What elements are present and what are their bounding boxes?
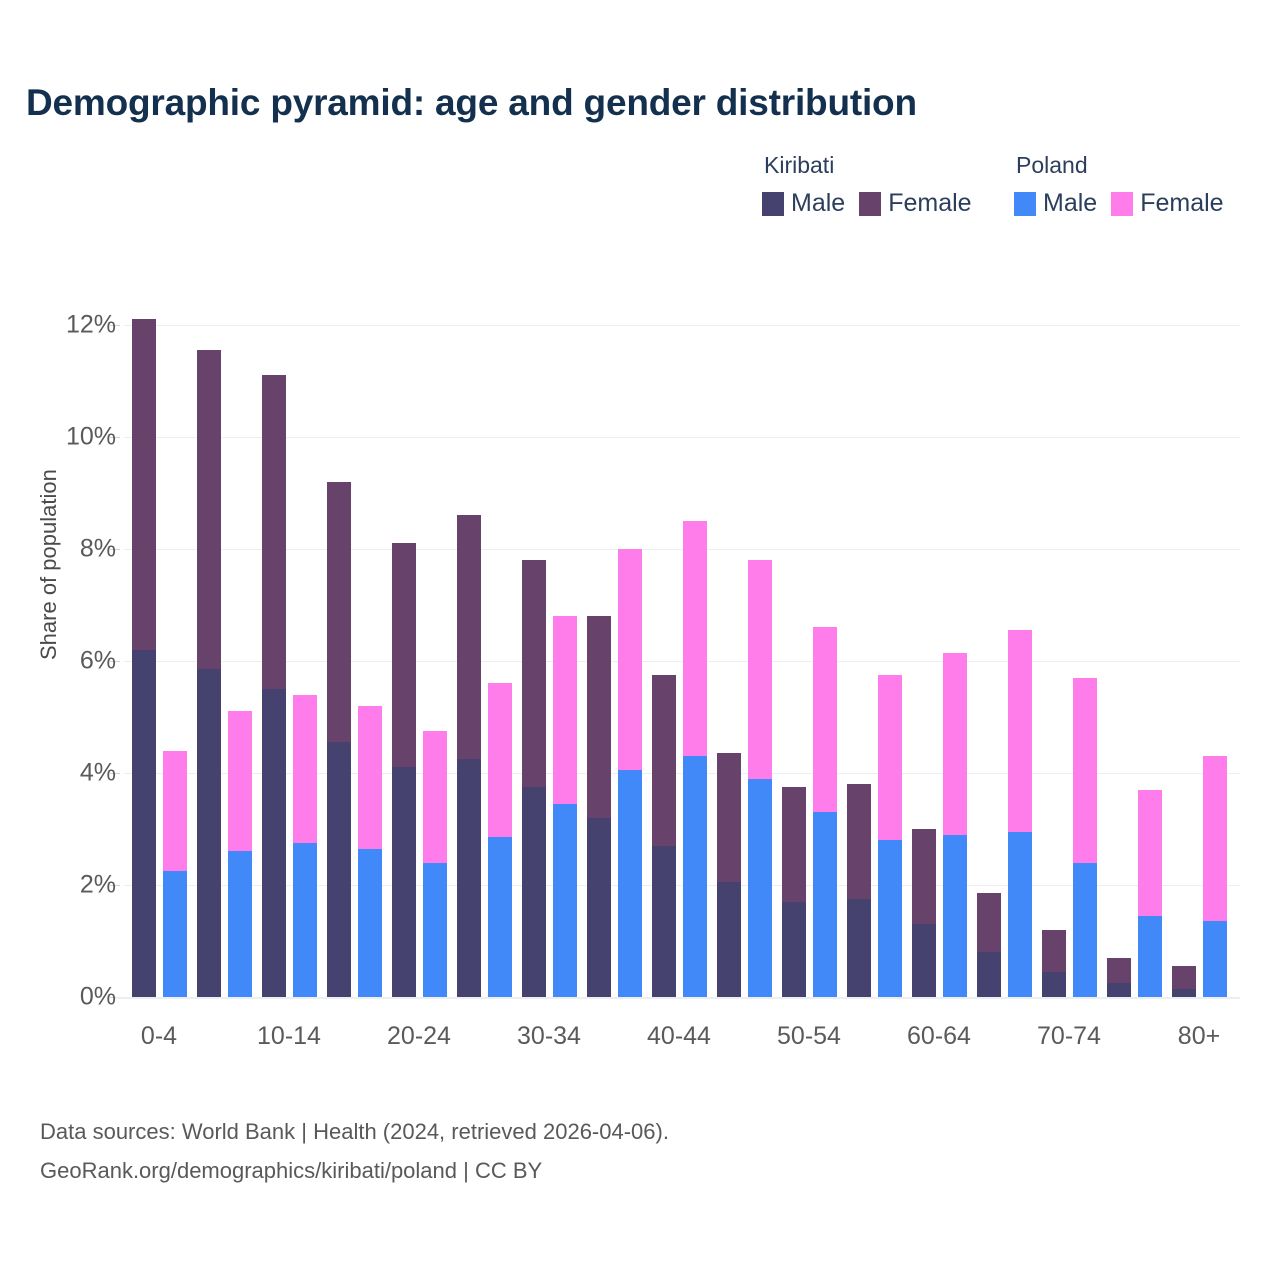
bar-poland[interactable] — [1008, 630, 1032, 997]
bar-segment-poland-male[interactable] — [358, 849, 382, 997]
bar-group — [587, 325, 642, 997]
bar-group — [262, 325, 317, 997]
bar-group — [977, 325, 1032, 997]
bar-segment-poland-male[interactable] — [618, 770, 642, 997]
footer-line-attribution: GeoRank.org/demographics/kiribati/poland… — [40, 1151, 669, 1190]
y-axis-tick-label: 0% — [0, 983, 116, 1012]
bar-segment-poland-female[interactable] — [1203, 756, 1227, 921]
bar-segment-poland-male[interactable] — [683, 756, 707, 997]
bar-segment-poland-male[interactable] — [1008, 832, 1032, 997]
bar-segment-kiribati-male[interactable] — [262, 689, 286, 997]
x-axis-tick-label: 50-54 — [777, 1022, 841, 1051]
bar-group — [197, 325, 252, 997]
bar-poland[interactable] — [293, 695, 317, 997]
y-axis-label: Share of population — [36, 469, 62, 660]
bar-group — [717, 325, 772, 997]
bar-segment-kiribati-male[interactable] — [652, 846, 676, 997]
bar-segment-kiribati-male[interactable] — [457, 759, 481, 997]
bar-kiribati[interactable] — [587, 616, 611, 997]
bar-poland[interactable] — [943, 653, 967, 997]
bar-segment-kiribati-female[interactable] — [132, 319, 156, 649]
bar-segment-kiribati-female[interactable] — [977, 893, 1001, 952]
chart-area: Share of population 0%2%4%6%8%10%12%0-41… — [0, 0, 1280, 1280]
bar-segment-kiribati-female[interactable] — [392, 543, 416, 767]
bar-kiribati[interactable] — [652, 675, 676, 997]
bar-kiribati[interactable] — [392, 543, 416, 997]
bar-segment-kiribati-female[interactable] — [327, 482, 351, 742]
bar-kiribati[interactable] — [977, 893, 1001, 997]
bar-segment-kiribati-male[interactable] — [1172, 989, 1196, 997]
bar-group — [132, 325, 187, 997]
footer-line-sources: Data sources: World Bank | Health (2024,… — [40, 1112, 669, 1151]
bar-kiribati[interactable] — [262, 375, 286, 997]
bar-poland[interactable] — [878, 675, 902, 997]
bar-segment-poland-female[interactable] — [1008, 630, 1032, 832]
bar-kiribati[interactable] — [717, 753, 741, 997]
bar-segment-poland-female[interactable] — [878, 675, 902, 840]
y-axis-tick-label: 10% — [0, 423, 116, 452]
bar-group — [912, 325, 967, 997]
bar-segment-poland-male[interactable] — [1073, 863, 1097, 997]
bar-segment-poland-male[interactable] — [1138, 916, 1162, 997]
bar-segment-kiribati-male[interactable] — [392, 767, 416, 997]
bar-segment-kiribati-female[interactable] — [522, 560, 546, 787]
bar-segment-kiribati-male[interactable] — [522, 787, 546, 997]
bar-segment-poland-male[interactable] — [488, 837, 512, 997]
bar-poland[interactable] — [228, 711, 252, 997]
bar-segment-poland-male[interactable] — [943, 835, 967, 997]
x-axis-tick-label: 30-34 — [517, 1022, 581, 1051]
bar-kiribati[interactable] — [1107, 958, 1131, 997]
bar-poland[interactable] — [553, 616, 577, 997]
bar-kiribati[interactable] — [1042, 930, 1066, 997]
bar-segment-poland-female[interactable] — [358, 706, 382, 849]
x-axis-tick-label: 60-64 — [907, 1022, 971, 1051]
bar-poland[interactable] — [423, 731, 447, 997]
bar-poland[interactable] — [358, 706, 382, 997]
bar-segment-kiribati-female[interactable] — [1172, 966, 1196, 988]
bar-segment-kiribati-male[interactable] — [132, 650, 156, 997]
bar-poland[interactable] — [748, 560, 772, 997]
x-axis-tick-label: 40-44 — [647, 1022, 711, 1051]
bar-group — [327, 325, 382, 997]
bar-segment-poland-female[interactable] — [488, 683, 512, 837]
bar-segment-kiribati-male[interactable] — [327, 742, 351, 997]
bar-segment-poland-male[interactable] — [163, 871, 187, 997]
y-axis-tick-label: 4% — [0, 759, 116, 788]
bar-group — [392, 325, 447, 997]
bar-poland[interactable] — [618, 549, 642, 997]
x-axis-tick-label: 80+ — [1178, 1022, 1220, 1051]
y-axis-tick-label: 2% — [0, 871, 116, 900]
bar-poland[interactable] — [1138, 790, 1162, 997]
bar-kiribati[interactable] — [782, 787, 806, 997]
bar-segment-poland-female[interactable] — [943, 653, 967, 835]
x-axis-tick-label: 70-74 — [1037, 1022, 1101, 1051]
x-axis-tick-label: 0-4 — [141, 1022, 177, 1051]
bar-segment-kiribati-male[interactable] — [197, 669, 221, 997]
y-axis-tick-label: 12% — [0, 311, 116, 340]
bar-segment-poland-female[interactable] — [683, 521, 707, 756]
bar-segment-poland-female[interactable] — [748, 560, 772, 778]
bar-group — [1172, 325, 1227, 997]
bar-segment-kiribati-female[interactable] — [652, 675, 676, 846]
bar-segment-kiribati-female[interactable] — [847, 784, 871, 899]
bar-segment-poland-male[interactable] — [878, 840, 902, 997]
x-axis-tick-label: 10-14 — [257, 1022, 321, 1051]
x-axis-tick-label: 20-24 — [387, 1022, 451, 1051]
bar-segment-poland-male[interactable] — [553, 804, 577, 997]
chart-footer: Data sources: World Bank | Health (2024,… — [40, 1112, 669, 1190]
y-axis-tick-label: 6% — [0, 647, 116, 676]
bar-segment-poland-female[interactable] — [163, 751, 187, 871]
bar-segment-kiribati-female[interactable] — [782, 787, 806, 902]
bar-group — [782, 325, 837, 997]
y-axis-tick-label: 8% — [0, 535, 116, 564]
bar-segment-kiribati-female[interactable] — [262, 375, 286, 689]
bar-kiribati[interactable] — [1172, 966, 1196, 997]
bar-kiribati[interactable] — [457, 515, 481, 997]
bar-segment-poland-female[interactable] — [228, 711, 252, 851]
bar-segment-poland-male[interactable] — [748, 779, 772, 997]
bar-poland[interactable] — [1073, 678, 1097, 997]
bar-segment-poland-male[interactable] — [813, 812, 837, 997]
bar-kiribati[interactable] — [132, 319, 156, 997]
bar-segment-kiribati-female[interactable] — [197, 350, 221, 669]
chart-page: Demographic pyramid: age and gender dist… — [0, 0, 1280, 1280]
bar-segment-kiribati-male[interactable] — [717, 882, 741, 997]
bar-group — [1042, 325, 1097, 997]
bar-segment-poland-female[interactable] — [423, 731, 447, 863]
bar-kiribati[interactable] — [197, 350, 221, 997]
bar-group — [1107, 325, 1162, 997]
bar-poland[interactable] — [683, 521, 707, 997]
bar-segment-poland-female[interactable] — [1138, 790, 1162, 916]
bar-segment-poland-female[interactable] — [553, 616, 577, 804]
bar-kiribati[interactable] — [847, 784, 871, 997]
bar-segment-poland-female[interactable] — [293, 695, 317, 843]
bar-group — [847, 325, 902, 997]
bar-segment-poland-female[interactable] — [813, 627, 837, 812]
bar-segment-kiribati-male[interactable] — [782, 902, 806, 997]
bar-segment-kiribati-female[interactable] — [1107, 958, 1131, 983]
x-axis-baseline — [116, 997, 1240, 999]
bar-group — [652, 325, 707, 997]
bar-kiribati[interactable] — [327, 482, 351, 997]
bar-segment-kiribati-female[interactable] — [587, 616, 611, 818]
bar-segment-poland-male[interactable] — [1203, 921, 1227, 997]
bar-poland[interactable] — [488, 683, 512, 997]
bar-segment-kiribati-male[interactable] — [912, 924, 936, 997]
bar-segment-kiribati-male[interactable] — [847, 899, 871, 997]
bar-segment-kiribati-male[interactable] — [1042, 972, 1066, 997]
bar-segment-kiribati-female[interactable] — [457, 515, 481, 759]
plot-area — [124, 325, 1240, 997]
bar-segment-poland-male[interactable] — [293, 843, 317, 997]
bar-segment-kiribati-male[interactable] — [1107, 983, 1131, 997]
bar-kiribati[interactable] — [522, 560, 546, 997]
bar-segment-poland-male[interactable] — [228, 851, 252, 997]
bar-segment-kiribati-male[interactable] — [977, 952, 1001, 997]
bar-poland[interactable] — [163, 751, 187, 997]
bar-poland[interactable] — [1203, 756, 1227, 997]
bar-poland[interactable] — [813, 627, 837, 997]
bar-segment-kiribati-male[interactable] — [587, 818, 611, 997]
bar-segment-kiribati-female[interactable] — [1042, 930, 1066, 972]
bar-segment-poland-female[interactable] — [618, 549, 642, 770]
bar-segment-kiribati-female[interactable] — [912, 829, 936, 924]
bar-segment-poland-male[interactable] — [423, 863, 447, 997]
bar-segment-kiribati-female[interactable] — [717, 753, 741, 882]
bar-kiribati[interactable] — [912, 829, 936, 997]
bar-segment-poland-female[interactable] — [1073, 678, 1097, 863]
bar-group — [457, 325, 512, 997]
bar-group — [522, 325, 577, 997]
